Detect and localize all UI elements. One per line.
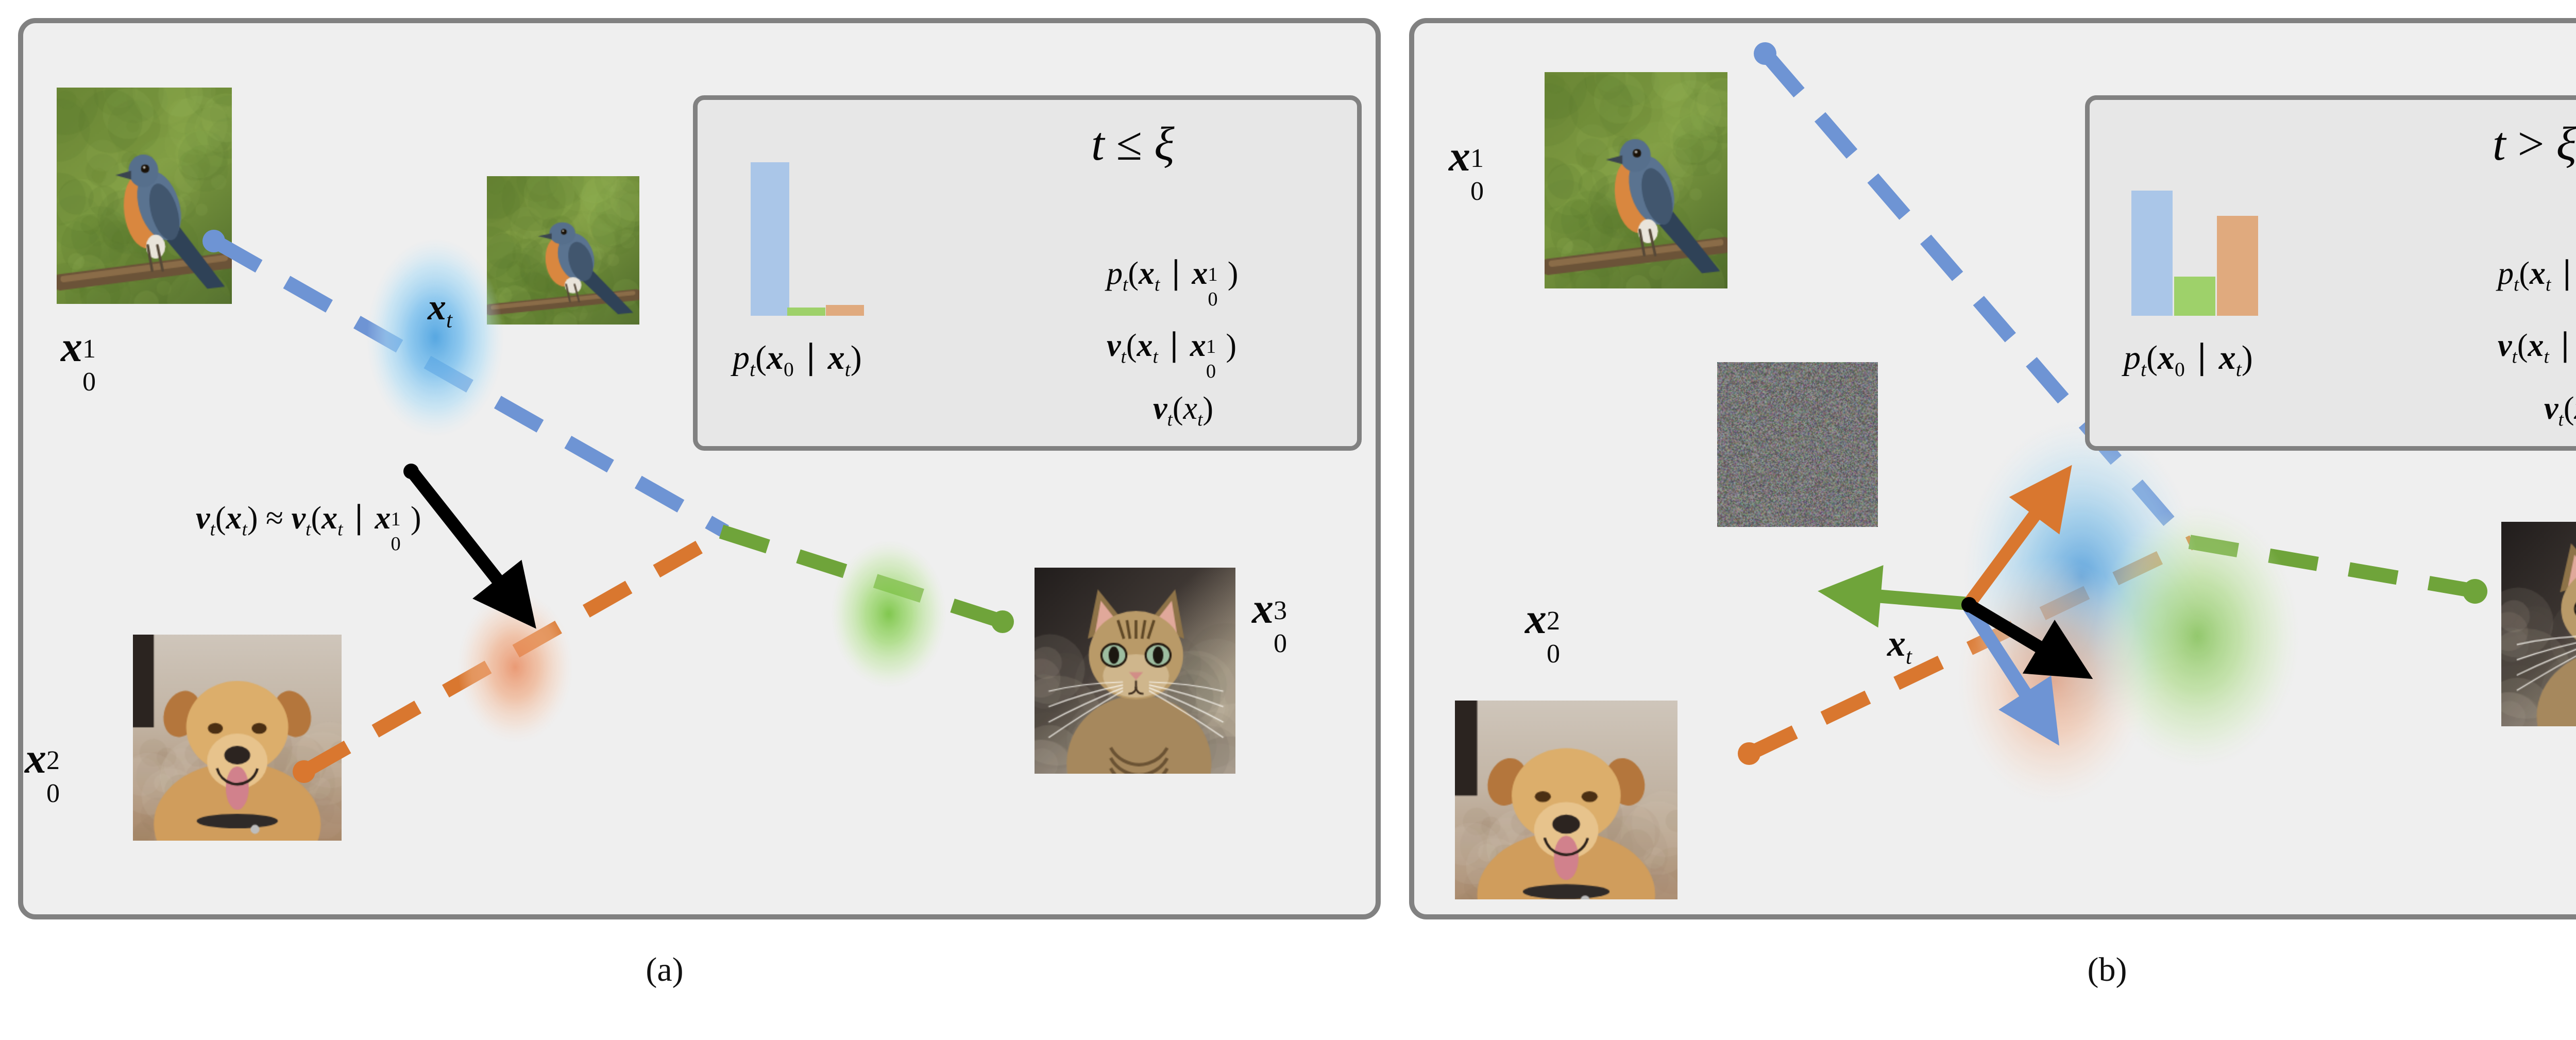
subcaption-a: (a) bbox=[613, 950, 716, 990]
legend-axis-caption-b: pt(x0 ∣ xt) bbox=[2124, 341, 2253, 380]
noise-image-sample-b bbox=[1717, 362, 1878, 527]
legend-entry-2-label-b: vt(xt) bbox=[2544, 393, 2576, 430]
label-x0-1-b: x10 bbox=[1449, 135, 1497, 178]
label-xt-a: xt bbox=[428, 288, 452, 332]
bar-a-1 bbox=[751, 162, 789, 316]
legend-entry-2-label-a: vt(xt) bbox=[1153, 393, 1213, 430]
dog-image-bottom-left-a bbox=[133, 635, 342, 841]
legend-entry-1-label-b: vt(xt ∣ x10) bbox=[2498, 330, 2576, 367]
cat-image-right-b bbox=[2501, 522, 2576, 726]
label-xt-b: xt bbox=[1887, 625, 1912, 668]
label-x0-1-a: x10 bbox=[61, 326, 109, 369]
bar-a-2 bbox=[787, 308, 825, 316]
legend-entry-1-label-a: vt(xt ∣ x10) bbox=[1107, 330, 1236, 367]
cat-image-right-a bbox=[1035, 568, 1235, 774]
legend-condition-label-a: t ≤ ξ bbox=[1091, 120, 1174, 167]
annotation-velocity-approx-a: vt(xt) ≈ vt(xt ∣ x10) bbox=[196, 502, 421, 539]
dog-image-bottom-left-b bbox=[1455, 701, 1677, 912]
label-x0-3-a: x30 bbox=[1252, 587, 1300, 630]
label-x0-2-a: x20 bbox=[25, 737, 73, 780]
bird-image-top-left-a bbox=[57, 88, 232, 304]
figure-root: x10 x20 x30 xt vt(xt) ≈ vt(xt ∣ x10) pt(… bbox=[0, 0, 2576, 1040]
legend-condition-label-b: t > ξ bbox=[2493, 120, 2576, 167]
bird-image-sample-a bbox=[487, 176, 639, 325]
bar-b-3 bbox=[2217, 216, 2258, 316]
bar-a-3 bbox=[826, 305, 864, 316]
legend-axis-caption-a: pt(x0 ∣ xt) bbox=[733, 341, 862, 380]
legend-entry-0-label-a: pt(xt ∣ x10) bbox=[1107, 258, 1238, 295]
label-x0-2-b: x20 bbox=[1525, 598, 1573, 641]
bar-b-1 bbox=[2131, 191, 2173, 316]
subcaption-b: (b) bbox=[2056, 950, 2159, 990]
legend-box-a bbox=[693, 95, 1362, 451]
bird-image-top-left-b bbox=[1545, 72, 1727, 288]
bar-b-2 bbox=[2174, 277, 2215, 316]
legend-entry-0-label-b: pt(xt ∣ x10) bbox=[2498, 258, 2576, 295]
